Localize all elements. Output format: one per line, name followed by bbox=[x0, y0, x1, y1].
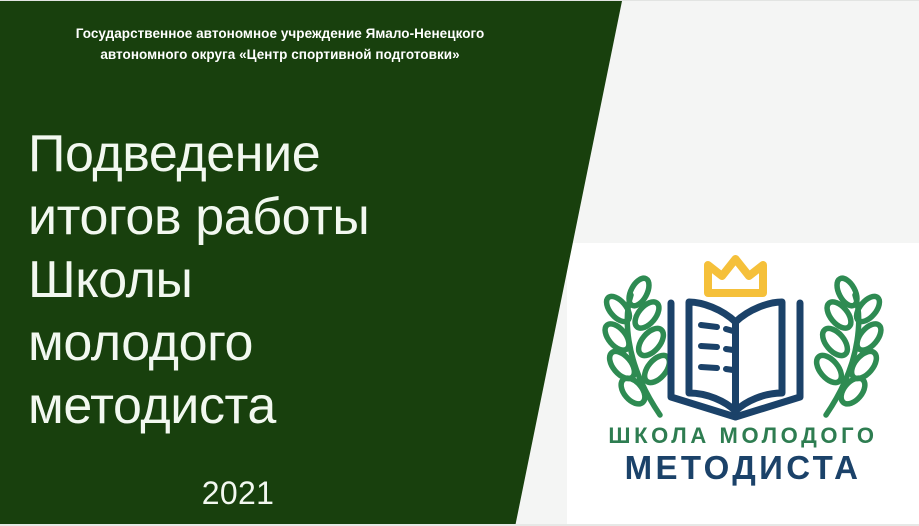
organization-header-line-2: автономного округа «Центр спортивной под… bbox=[0, 44, 560, 65]
presentation-slide: ШКОЛА МОЛОДОГО МЕТОДИСТА Государственное… bbox=[0, 0, 919, 526]
crown-icon bbox=[708, 259, 763, 293]
page-title: Подведение итогов работы Школы молодого … bbox=[28, 123, 498, 438]
year-label: 2021 bbox=[0, 475, 476, 512]
laurel-branch-left-icon bbox=[601, 275, 675, 415]
organization-header-line-1: Государственное автономное учреждение Ям… bbox=[0, 23, 560, 44]
logo-card: ШКОЛА МОЛОДОГО МЕТОДИСТА bbox=[567, 243, 919, 524]
logo-wordmark: ШКОЛА МОЛОДОГО МЕТОДИСТА bbox=[567, 423, 919, 487]
page-title-line-4: молодого bbox=[28, 312, 498, 375]
logo-wordmark-top: ШКОЛА МОЛОДОГО bbox=[567, 423, 919, 449]
logo-wordmark-bottom: МЕТОДИСТА bbox=[567, 449, 919, 487]
page-title-line-1: Подведение bbox=[28, 123, 498, 186]
laurel-branch-right-icon bbox=[812, 275, 886, 415]
organization-header: Государственное автономное учреждение Ям… bbox=[0, 23, 560, 65]
page-title-line-5: методиста bbox=[28, 375, 498, 438]
logo-artwork bbox=[567, 245, 919, 435]
page-title-line-3: Школы bbox=[28, 249, 498, 312]
open-book-icon bbox=[671, 302, 800, 417]
page-title-line-2: итогов работы bbox=[28, 186, 498, 249]
